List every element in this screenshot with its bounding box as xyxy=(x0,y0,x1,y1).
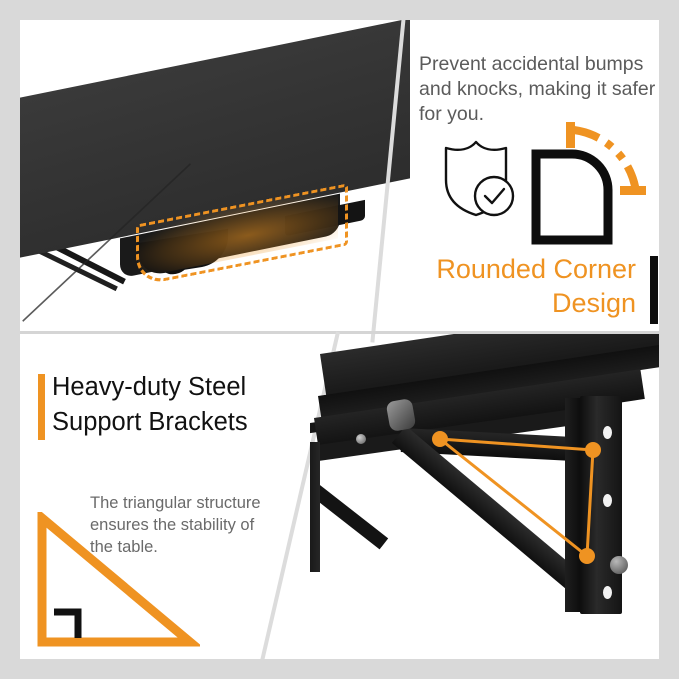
right-triangle-icon xyxy=(30,512,200,657)
support-bracket-title: Heavy-duty Steel Support Brackets xyxy=(52,370,342,440)
bracket-triangle-overlay xyxy=(310,334,659,659)
title-line-2: Design xyxy=(400,286,636,320)
rounded-corner-info-panel: Prevent accidental bumps and knocks, mak… xyxy=(410,20,659,331)
title-line-1: Rounded Corner xyxy=(400,252,636,286)
rounded-corner-radius-icon xyxy=(528,116,652,251)
body-line-2: and knocks, making it safer xyxy=(419,77,659,102)
title-line-1: Heavy-duty Steel xyxy=(52,370,342,405)
infographic-frame: Prevent accidental bumps and knocks, mak… xyxy=(0,0,679,679)
support-bracket-info-panel: Heavy-duty Steel Support Brackets The tr… xyxy=(20,334,350,659)
title-accent-bar-black xyxy=(650,256,658,324)
rounded-corner-title: Rounded Corner Design xyxy=(400,252,652,320)
rounded-corner-table-photo xyxy=(20,20,410,331)
body-line-1: Prevent accidental bumps xyxy=(419,52,659,77)
shield-check-icon xyxy=(442,138,516,223)
title-accent-bar-orange xyxy=(38,374,45,440)
body-line-1: The triangular structure xyxy=(90,492,325,514)
title-line-2: Support Brackets xyxy=(52,405,342,440)
infographic-canvas: Prevent accidental bumps and knocks, mak… xyxy=(20,20,659,659)
steel-support-bracket-photo xyxy=(310,334,659,659)
